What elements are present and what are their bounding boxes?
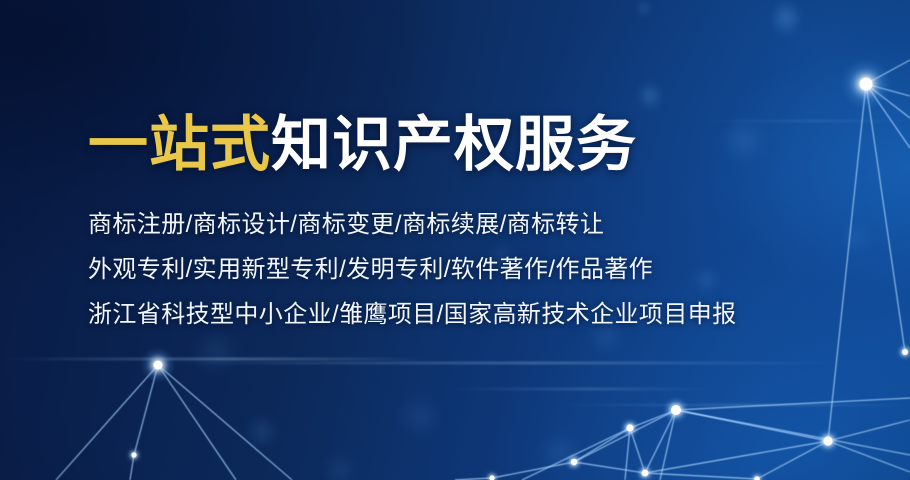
network-edge <box>56 365 158 480</box>
network-node-glow <box>662 396 690 424</box>
bokeh-dot <box>636 0 652 17</box>
network-edge <box>676 410 910 455</box>
network-edge <box>645 441 828 473</box>
network-node <box>642 470 649 477</box>
network-edge <box>158 365 236 480</box>
banner-copy: 一站式知识产权服务 商标注册/商标设计/商标变更/商标续展/商标转让 外观专利/… <box>88 108 737 337</box>
network-node <box>626 424 633 431</box>
network-node-glow <box>565 453 583 471</box>
network-edge <box>522 428 630 480</box>
network-edge <box>574 428 630 462</box>
hero-banner: 一站式知识产权服务 商标注册/商标设计/商标变更/商标续展/商标转让 外观专利/… <box>0 0 910 480</box>
network-node-glow <box>485 471 499 480</box>
service-list: 商标注册/商标设计/商标变更/商标续展/商标转让 外观专利/实用新型专利/发明专… <box>88 202 737 337</box>
network-edge <box>625 428 630 480</box>
network-node-glow <box>140 347 176 383</box>
network-node <box>489 475 494 480</box>
bokeh-dot <box>395 396 445 436</box>
network-edge <box>828 441 910 472</box>
bokeh-dot <box>320 455 360 480</box>
page-title: 一站式知识产权服务 <box>88 108 737 182</box>
network-node <box>131 452 136 457</box>
network-edge <box>676 398 910 410</box>
bokeh-dot <box>773 0 799 40</box>
network-edge <box>866 84 905 352</box>
network-node-glow <box>620 418 640 438</box>
network-edge <box>574 410 676 462</box>
network-node <box>571 459 577 465</box>
network-edge <box>828 420 910 441</box>
network-node <box>902 349 908 355</box>
network-edge <box>645 410 676 473</box>
light-streak <box>160 362 840 364</box>
network-edge <box>630 410 676 428</box>
network-edge <box>866 84 910 118</box>
network-edge <box>492 462 574 478</box>
bokeh-dot <box>839 223 873 253</box>
network-node <box>860 78 873 91</box>
headline-rest: 知识产权服务 <box>271 111 637 178</box>
network-edge <box>676 410 828 441</box>
network-node-glow <box>840 58 892 110</box>
light-streak <box>0 358 430 360</box>
network-node-glow <box>127 448 141 462</box>
network-edge <box>828 84 866 441</box>
light-streak <box>560 404 910 406</box>
network-edge <box>866 60 910 84</box>
network-node-glow <box>815 428 841 454</box>
bokeh-dot <box>537 434 583 470</box>
network-node-glow <box>750 472 764 480</box>
network-node <box>754 476 760 480</box>
headline-highlight: 一站式 <box>88 111 271 178</box>
service-line: 商标注册/商标设计/商标变更/商标续展/商标转让 <box>88 202 737 247</box>
network-edge <box>660 410 676 480</box>
network-node <box>154 361 163 370</box>
network-edge <box>866 84 910 96</box>
bokeh-dot <box>188 332 244 372</box>
service-line: 外观专利/实用新型专利/发明专利/软件著作/作品著作 <box>88 247 737 292</box>
network-edge <box>158 365 292 480</box>
network-edge <box>866 84 910 148</box>
service-line: 浙江省科技型中小企业/雏鹰项目/国家高新技术企业项目申报 <box>88 292 737 337</box>
network-edge <box>645 473 757 479</box>
network-node <box>671 405 681 415</box>
light-streak <box>450 388 710 390</box>
network-edge <box>130 455 134 480</box>
network-edge <box>630 428 645 473</box>
network-edge <box>757 441 828 479</box>
network-node-glow <box>636 464 654 480</box>
network-node <box>823 436 832 445</box>
network-edge <box>574 462 645 473</box>
network-node-glow <box>897 344 910 360</box>
bokeh-dot <box>245 416 279 448</box>
network-edge <box>134 365 158 455</box>
